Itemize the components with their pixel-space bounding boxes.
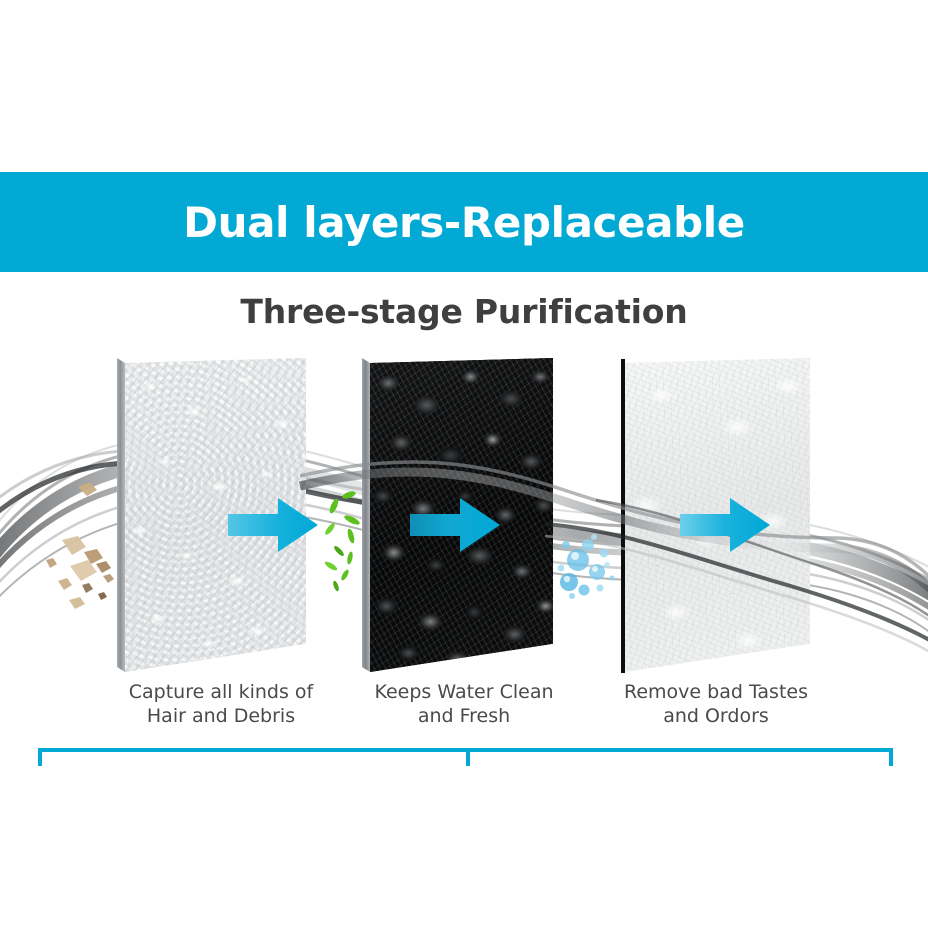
panel-side-edge-carbon [362,358,370,672]
stage-1-caption: Capture all kinds of Hair and Debris [105,680,337,728]
bottom-bracket [38,748,893,766]
stage-2-caption: Keeps Water Clean and Fresh [348,680,580,728]
bracket-tick-right [889,748,893,766]
infographic-canvas: Dual layers-Replaceable Three-stage Puri… [0,0,928,928]
header-banner: Dual layers-Replaceable [0,172,928,272]
panel-side-edge-felt [621,359,625,673]
stage-3-caption: Remove bad Tastes and Ordors [600,680,832,728]
bracket-tick-left [38,748,42,766]
flow-arrow-stage-3 [680,497,770,553]
panel-side-edge-foam [117,358,125,672]
flow-arrow-stage-1 [228,497,318,553]
flow-arrow-stage-2 [410,497,500,553]
banner-title: Dual layers-Replaceable [0,172,928,272]
section-subheading: Three-stage Purification [0,292,928,331]
bracket-tick-middle [466,748,470,766]
